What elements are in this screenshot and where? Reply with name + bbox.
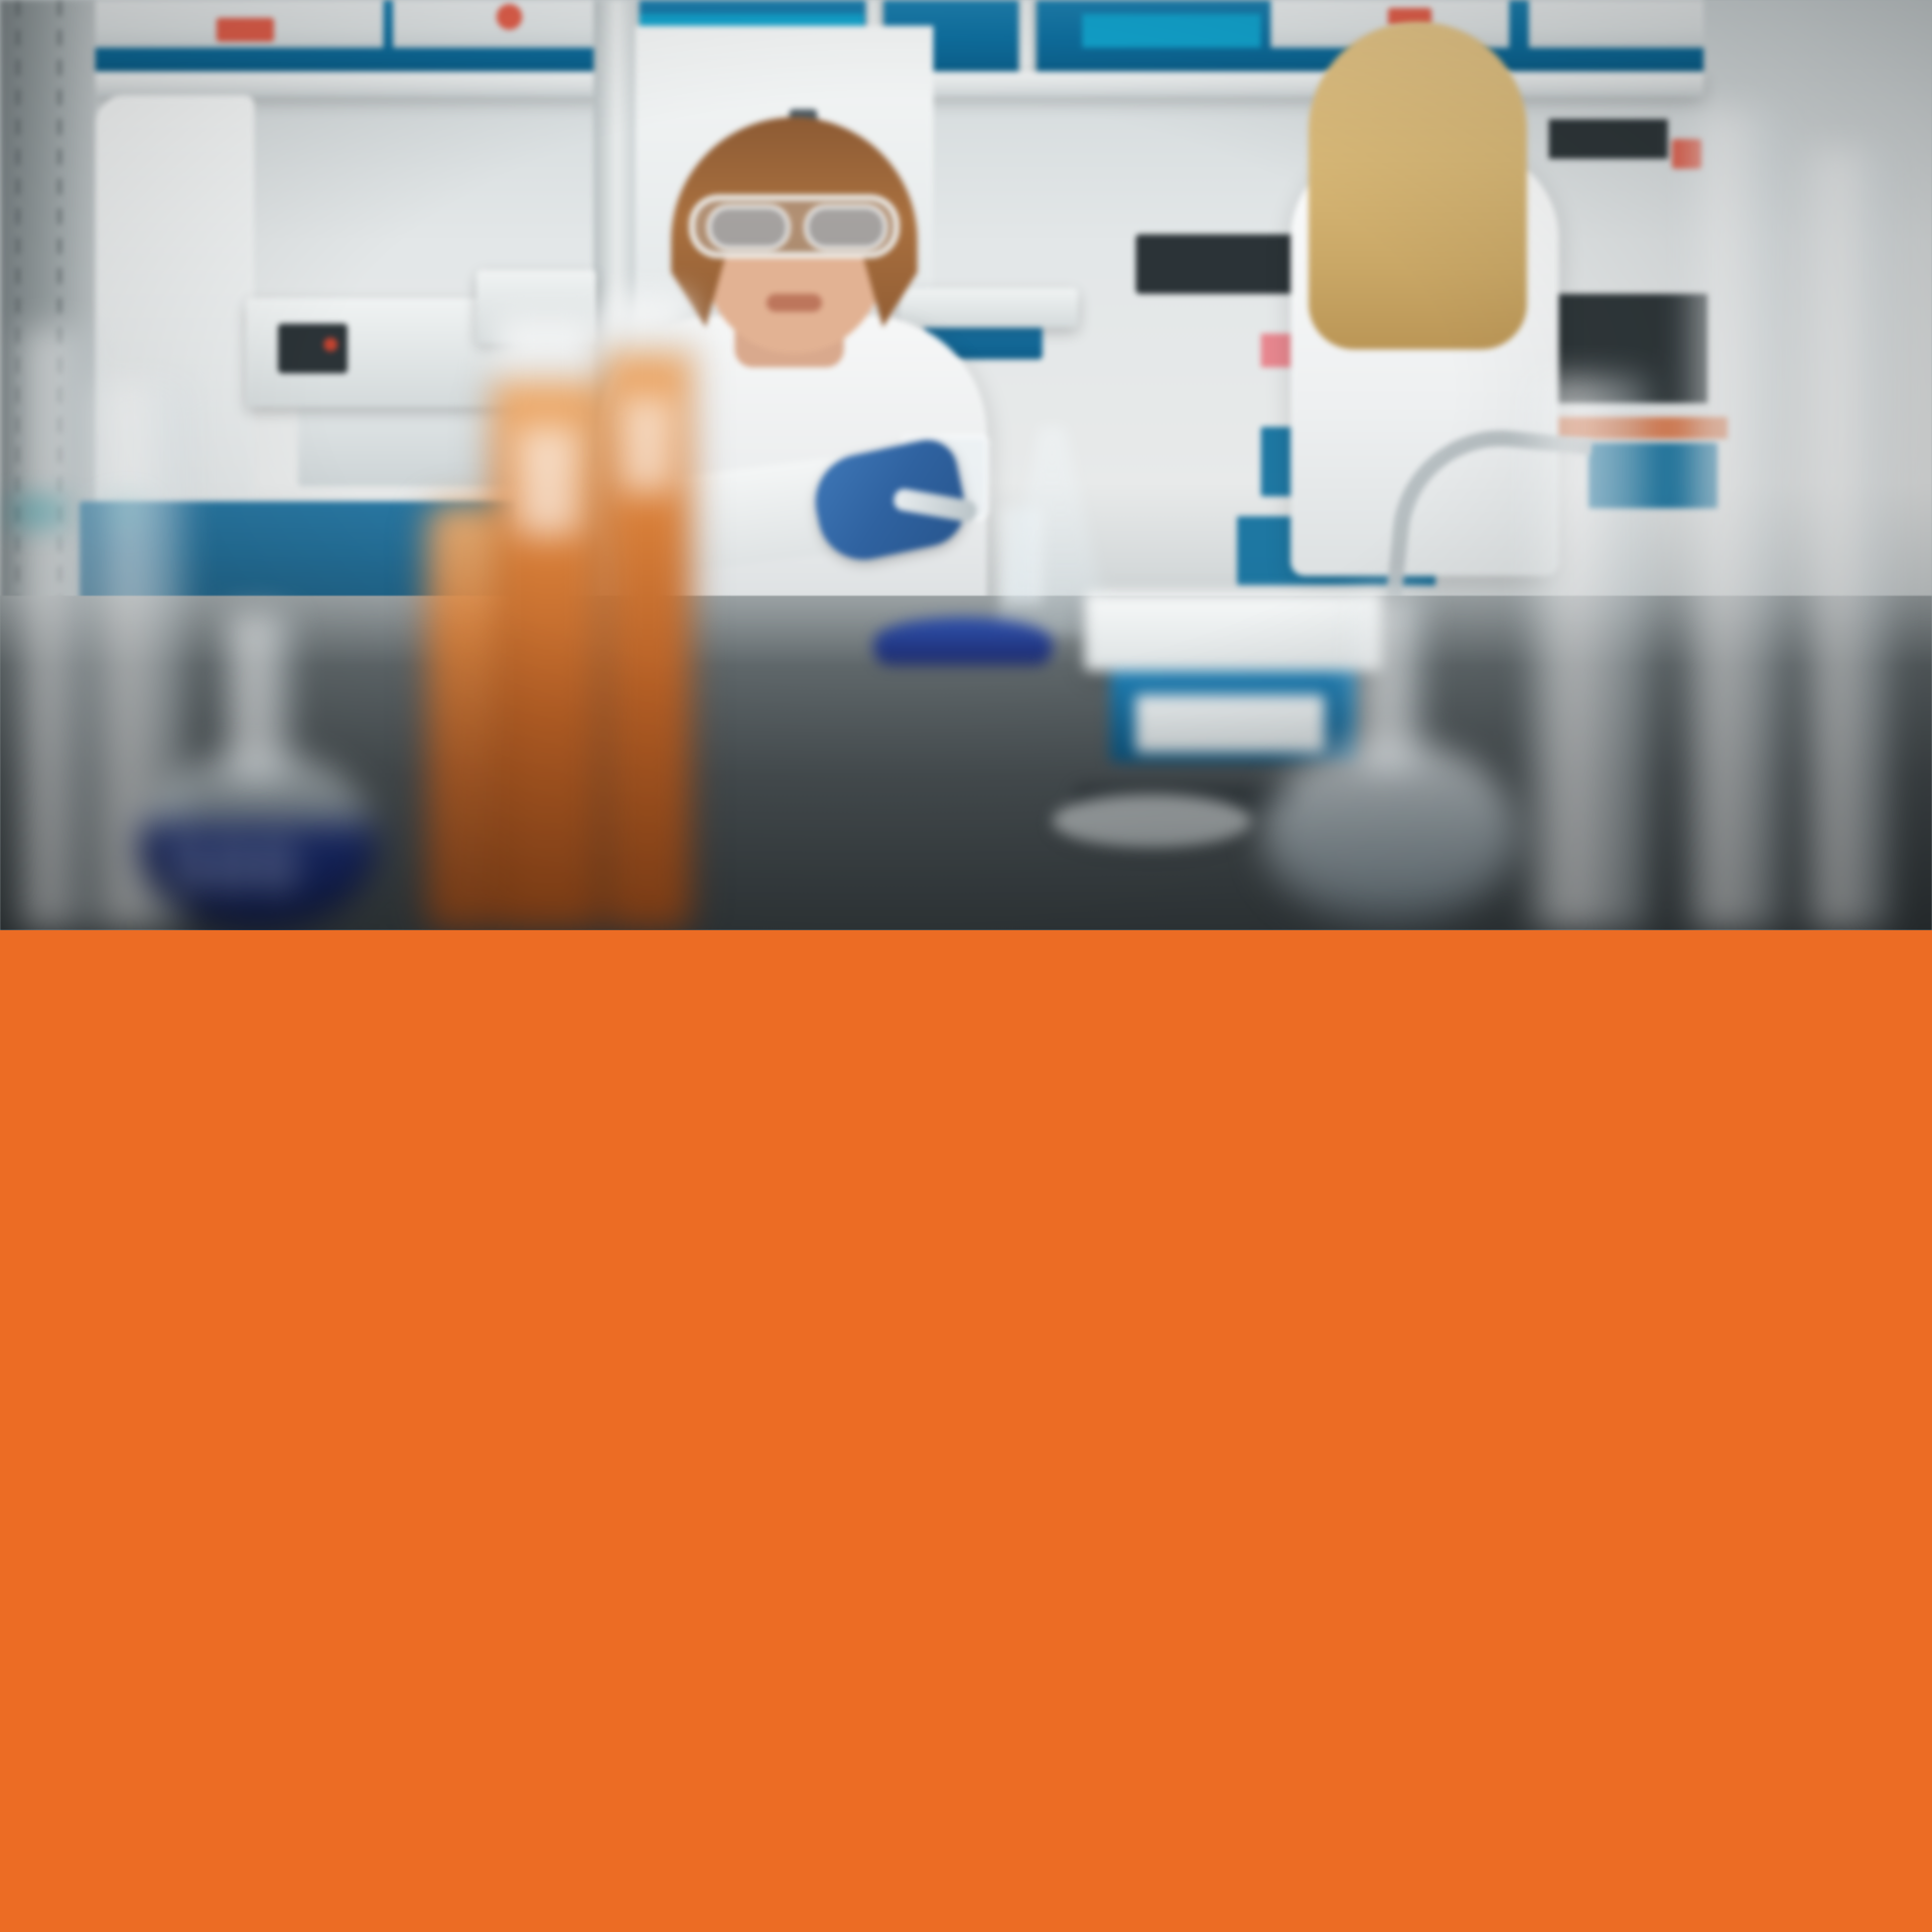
volumetric-flask-right — [1261, 672, 1519, 930]
marketing-poster: 500 — [0, 0, 1932, 1932]
amber-bottle-cap-a — [496, 320, 600, 381]
amber-bottle-c — [427, 503, 496, 930]
tall-glassware-right-b — [1805, 149, 1890, 930]
amber-bottle-cap-b — [608, 298, 689, 353]
page-title: THERE IS A FINE LINE BETWEEN PASSION AND… — [142, 1927, 1830, 1932]
cylinder-band-a — [14, 504, 64, 520]
graduated-cylinder-left — [18, 328, 91, 930]
orange-content-panel: THERE IS A FINE LINE BETWEEN PASSION AND… — [0, 930, 1932, 1932]
foreground-glassware-layer: 500 — [0, 0, 1932, 930]
volumetric-flask-500: 500 — [139, 682, 377, 930]
headline-line-1: THERE IS A FINE LINE — [142, 1927, 1830, 1932]
lab-photo-scene: 500 — [0, 0, 1932, 930]
amber-bottle-label-a — [516, 427, 580, 536]
flask-volume-marking: 500 — [169, 827, 300, 908]
tall-glassware-right-a — [1688, 109, 1783, 930]
amber-bottle-label-b — [621, 397, 673, 492]
tall-glassware-right-c — [1529, 377, 1648, 930]
lab-photo: 500 — [0, 0, 1932, 930]
volumetric-flask-right-bulb — [1261, 742, 1519, 930]
